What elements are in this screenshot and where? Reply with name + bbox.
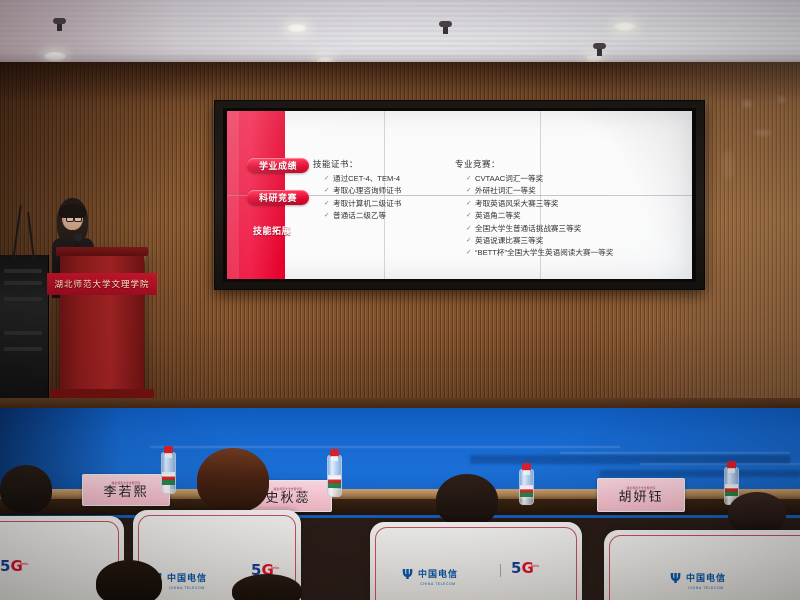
- podium-banner: 湖北师范大学文理学院: [47, 273, 157, 295]
- podium-top: [56, 247, 148, 256]
- china-telecom-cn: 中国电信: [167, 573, 207, 583]
- rack-slot: [4, 297, 42, 301]
- china-telecom-wordmark: 中国电信 CHINA TELECOM: [686, 568, 726, 590]
- name-card: 湖北师范大学文理学院 李若熙: [82, 474, 170, 506]
- carpet-fold: [640, 463, 800, 465]
- ceiling-light: [613, 22, 637, 32]
- water-bottle[interactable]: [327, 455, 342, 497]
- 5g-logo: 5 G hello: [511, 562, 539, 575]
- slide-bullet: 英语说课比赛三等奖: [466, 235, 613, 247]
- china-telecom-wordmark: 中国电信 CHINA TELECOM: [167, 568, 207, 590]
- wall-scuff: [742, 100, 752, 108]
- slide-bullet: 全国大学生普通话挑战赛三等奖: [466, 223, 613, 235]
- slide-bullet: 普通话二级乙等: [324, 210, 401, 222]
- rack-slot: [4, 269, 42, 273]
- name-card-name: 李若熙: [103, 485, 148, 499]
- slide-column-2-list: CVTAAC词汇一等奖 外研社词汇一等奖 考取英语风采大赛三等奖 英语角二等奖 …: [466, 173, 613, 260]
- 5g-hello: hello: [531, 563, 539, 568]
- water-bottle[interactable]: [519, 469, 534, 505]
- water-bottle[interactable]: [161, 452, 176, 494]
- bottle-label: [520, 485, 533, 497]
- name-card-name: 史秋蕊: [265, 491, 310, 505]
- slide-column-1-list: 通过CET-4、TEM-4 考取心理咨询师证书 考取计算机二级证书 普通话二级乙…: [324, 173, 401, 223]
- ceiling-light: [286, 24, 308, 33]
- 5g-five: 5: [511, 562, 521, 575]
- slide-column-1-heading: 技能证书：: [313, 158, 358, 170]
- slide-bullet: 考取计算机二级证书: [324, 198, 401, 210]
- audience-head: [0, 465, 52, 513]
- bottle-neck: [165, 453, 172, 458]
- slide-bullet: 英语角二等奖: [466, 210, 613, 222]
- china-telecom-mark-icon: Ψ: [670, 573, 683, 586]
- name-card-name: 胡妍钰: [618, 490, 663, 504]
- name-card: 湖北师范大学文理学院 胡妍钰: [597, 478, 685, 512]
- china-telecom-en: CHINA TELECOM: [167, 586, 207, 590]
- chair-cover: Ψ 中国电信 CHINA TELECOM 5 G hello: [370, 522, 582, 600]
- slide-bullet: 通过CET-4、TEM-4: [324, 173, 401, 185]
- slide-tab-skills-label: 技能拓展: [253, 224, 291, 237]
- slide-bullet: 外研社词汇一等奖: [466, 185, 613, 197]
- bottle-label: [725, 484, 738, 496]
- china-telecom-mark-icon: Ψ: [402, 569, 415, 582]
- chair-cover: Ψ 中国电信 CHINA TELECOM: [604, 530, 800, 600]
- 5g-five: 5: [0, 560, 10, 573]
- slide-bullet: CVTAAC词汇一等奖: [466, 173, 613, 185]
- slide-tab-academic-label: 学业成绩: [259, 159, 297, 172]
- slide-tab-academic[interactable]: 学业成绩: [247, 158, 309, 173]
- bottle-neck: [523, 470, 530, 475]
- rack-slot: [4, 347, 42, 351]
- 5g-logo: 5 G hello: [0, 560, 28, 573]
- carpet-fold: [560, 452, 790, 454]
- china-telecom-wordmark: 中国电信 CHINA TELECOM: [418, 564, 458, 586]
- slide-bullet: “BETT杯”全国大学生英语阅读大赛一等奖: [466, 247, 613, 259]
- projection-screen[interactable]: 学业成绩 科研竞赛 技能拓展 技能证书： 通过CET-4、TEM-4 考取心理咨…: [214, 100, 705, 290]
- carpet-fold: [150, 446, 620, 448]
- 5g-hello: hello: [271, 565, 279, 570]
- audience-head: [96, 560, 162, 600]
- podium-banner-text: 湖北师范大学文理学院: [54, 278, 149, 290]
- equipment-rack: [0, 255, 49, 400]
- slide-bullet: 考取英语风采大赛三等奖: [466, 198, 613, 210]
- slide-tab-research-label: 科研竞赛: [259, 191, 297, 204]
- ceiling-sprinkler: [57, 22, 62, 31]
- rack-slot: [4, 281, 42, 285]
- wall-scuff: [778, 96, 785, 103]
- carpet-crease: [600, 470, 800, 477]
- china-telecom-cn: 中国电信: [418, 569, 458, 579]
- slide-tab-skills[interactable]: 技能拓展: [241, 223, 303, 238]
- slide-column-2-heading: 专业竞赛：: [455, 158, 500, 170]
- conference-hall-photo: 学业成绩 科研竞赛 技能拓展 技能证书： 通过CET-4、TEM-4 考取心理咨…: [0, 0, 800, 600]
- bottle-neck: [331, 456, 338, 461]
- audience-head: [436, 474, 498, 526]
- china-telecom-en: CHINA TELECOM: [418, 582, 458, 586]
- china-telecom-logo: Ψ 中国电信 CHINA TELECOM: [670, 568, 726, 590]
- china-telecom-en: CHINA TELECOM: [686, 586, 726, 590]
- audience-head: [232, 574, 302, 600]
- bottle-label: [328, 475, 341, 488]
- speaker-fringe: [59, 204, 86, 218]
- bottle-label: [162, 472, 175, 485]
- logo-divider: [500, 564, 501, 577]
- wall-scuff: [722, 150, 734, 180]
- 5g-hello: hello: [20, 561, 28, 566]
- rack-slot: [4, 331, 42, 335]
- slide-tab-research[interactable]: 科研竞赛: [247, 190, 309, 205]
- ceiling-speaker: [443, 25, 448, 34]
- wall-scuff: [755, 130, 771, 136]
- audience-head: [197, 448, 269, 512]
- bottle-neck: [728, 468, 735, 473]
- audience-head: [728, 492, 786, 534]
- china-telecom-cn: 中国电信: [686, 573, 726, 583]
- slide-bullet: 考取心理咨询师证书: [324, 185, 401, 197]
- presentation-slide: 学业成绩 科研竞赛 技能拓展 技能证书： 通过CET-4、TEM-4 考取心理咨…: [227, 111, 692, 279]
- china-telecom-logo: Ψ 中国电信 CHINA TELECOM: [402, 564, 458, 586]
- podium: 湖北师范大学文理学院: [60, 253, 144, 398]
